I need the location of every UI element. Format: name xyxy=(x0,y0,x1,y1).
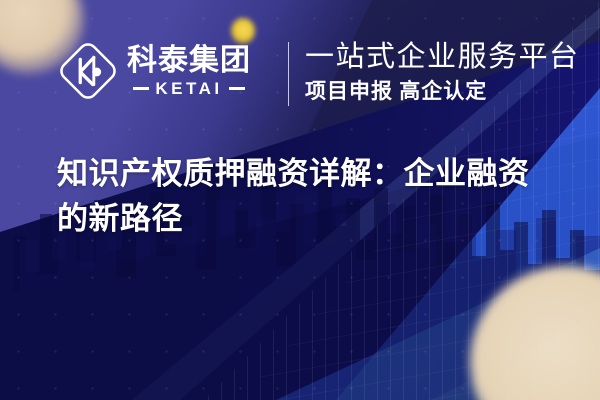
brand-lockup: 科泰集团 KETAI xyxy=(57,40,251,102)
brand-name-en-row: KETAI xyxy=(133,80,244,97)
brand-wordmark: 科泰集团 KETAI xyxy=(127,45,251,98)
tagline-main: 一站式企业服务平台 xyxy=(305,41,580,74)
dash-left-icon xyxy=(133,87,149,90)
dash-right-icon xyxy=(229,87,245,90)
headline-title: 知识产权质押融资详解：企业融资的新路径 xyxy=(57,152,537,242)
brand-name-en: KETAI xyxy=(155,80,222,97)
ketai-diamond-monogram-icon xyxy=(57,40,119,102)
brand-divider xyxy=(288,42,289,106)
promo-banner: 科泰集团 KETAI 一站式企业服务平台 项目申报 高企认定 知识产权质押融资详… xyxy=(0,0,600,400)
brand-name-cn: 科泰集团 xyxy=(127,45,251,77)
tagline-sub: 项目申报 高企认定 xyxy=(305,79,580,104)
banner-content: 科泰集团 KETAI 一站式企业服务平台 项目申报 高企认定 知识产权质押融资详… xyxy=(0,0,600,400)
tagline-block: 一站式企业服务平台 项目申报 高企认定 xyxy=(305,41,580,105)
